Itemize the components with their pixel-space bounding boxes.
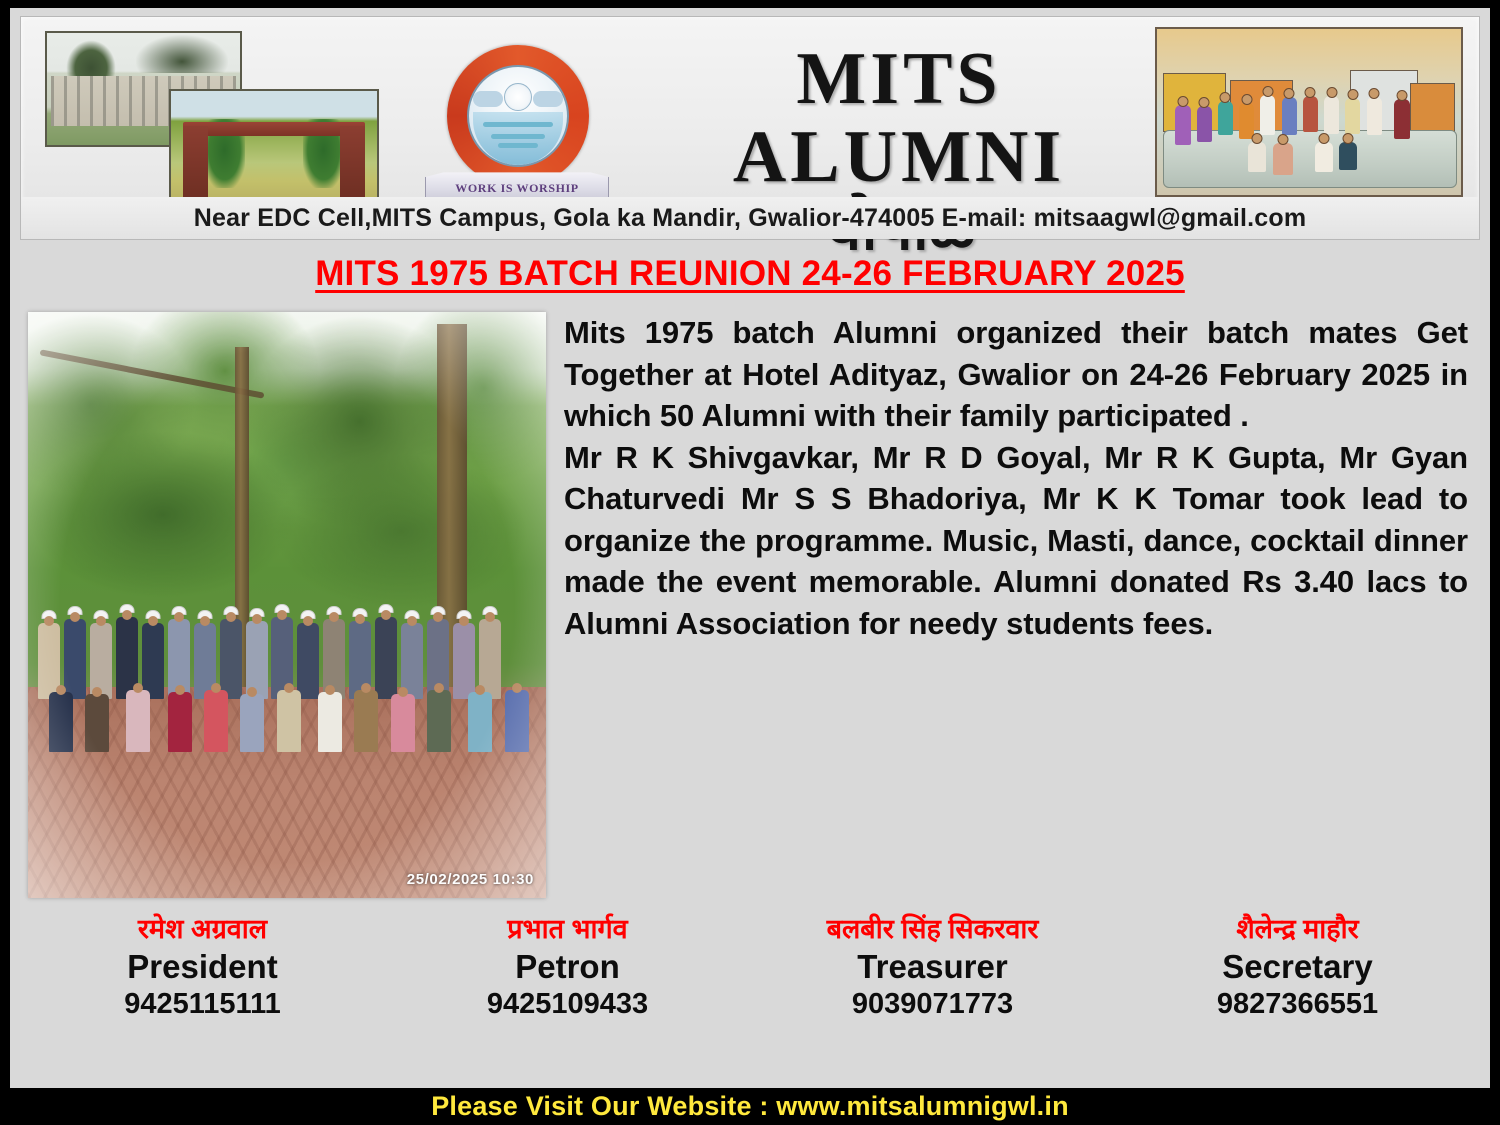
poster-body: WORK IS WORSHIP MITS ALUMNI चौपाळ [10, 8, 1490, 1088]
officer-role: President [20, 947, 385, 987]
illustration-hut-1 [1163, 73, 1226, 131]
poster-root: WORK IS WORSHIP MITS ALUMNI चौपाळ [0, 0, 1500, 1125]
illustration-figure [1197, 106, 1212, 142]
illustration-figure [1394, 99, 1410, 139]
officer-name-hi: प्रभात भार्गव [385, 914, 750, 945]
photo-person [85, 694, 109, 752]
gate-pillar-right [340, 126, 365, 203]
emblem-sun [504, 83, 532, 111]
photo-person [277, 690, 301, 752]
officer-secretary: शैलेन्द्र माहौर Secretary 9827366551 [1115, 914, 1480, 1021]
officer-role: Treasurer [750, 947, 1115, 987]
photo-person [318, 692, 342, 752]
address-text: Near EDC Cell,MITS Campus, Gola ka Mandi… [194, 204, 1307, 233]
officer-name-hi: शैलेन्द्र माहौर [1115, 914, 1480, 945]
officer-phone[interactable]: 9425109433 [385, 988, 750, 1021]
illustration-hut-4 [1410, 83, 1455, 131]
gate-pillar-left [183, 126, 208, 203]
photo-person [49, 692, 73, 752]
content-area: 25/02/2025 10:30 Mits 1975 batch Alumni … [28, 312, 1472, 898]
officer-role: Secretary [1115, 947, 1480, 987]
address-bar: Near EDC Cell,MITS Campus, Gola ka Mandi… [21, 197, 1479, 239]
illustration-figure [1260, 95, 1275, 135]
photo-person [240, 694, 264, 752]
illustration-figure [1303, 96, 1318, 132]
group-photo: 25/02/2025 10:30 [28, 312, 546, 898]
emblem-motto-text: WORK IS WORSHIP [455, 181, 578, 196]
photo-person [204, 690, 228, 752]
emblem-cloud-right [533, 91, 563, 107]
officer-name-hi: बलबीर सिंह सिकरवार [750, 914, 1115, 945]
mits-emblem-logo: WORK IS WORSHIP [419, 39, 619, 219]
officer-phone[interactable]: 9425115111 [20, 988, 385, 1021]
photo-person [468, 692, 492, 752]
illustration-figure [1315, 142, 1333, 172]
photo-person [505, 690, 529, 752]
emblem-inner-scene [467, 65, 569, 167]
wordmark-title-en: MITS ALUMNI [639, 41, 1159, 196]
illustration-figure [1324, 96, 1339, 134]
photo-person [168, 692, 192, 752]
illustration-figure [1218, 101, 1233, 135]
officer-petron: प्रभात भार्गव Petron 9425109433 [385, 914, 750, 1021]
illustration-figure [1175, 105, 1191, 145]
emblem-cloud-left [473, 91, 503, 107]
illustration-figure [1239, 103, 1254, 139]
photo-person [354, 690, 378, 752]
website-link[interactable]: Please Visit Our Website : www.mitsalumn… [431, 1091, 1069, 1122]
illustration-figure [1345, 98, 1360, 134]
officer-name-hi: रमेश अग्रवाल [20, 914, 385, 945]
website-footer-bar: Please Visit Our Website : www.mitsalumn… [0, 1088, 1500, 1125]
illustration-figure [1248, 142, 1266, 172]
article-text: Mits 1975 batch Alumni organized their b… [564, 312, 1472, 644]
illustration-figure [1339, 142, 1357, 170]
officer-president: रमेश अग्रवाल President 9425115111 [20, 914, 385, 1021]
photo-crowd-front-row [28, 664, 546, 752]
emblem-wave-3 [498, 143, 537, 148]
photo-person [427, 690, 451, 752]
illustration-figure [1282, 97, 1297, 135]
illustration-figure [1273, 143, 1293, 175]
emblem-wave-1 [483, 122, 554, 127]
photo-timestamp: 25/02/2025 10:30 [407, 871, 534, 888]
photo-person [391, 694, 415, 752]
photo-person [126, 690, 150, 752]
chaupal-illustration [1155, 27, 1463, 197]
officers-row: रमेश अग्रवाल President 9425115111 प्रभात… [20, 914, 1480, 1021]
article-paragraph-2: Mr R K Shivgavkar, Mr R D Goyal, Mr R K … [564, 437, 1468, 645]
gate-beam [183, 122, 364, 136]
officer-role: Petron [385, 947, 750, 987]
campus-gate-photo [169, 89, 379, 209]
illustration-figure [1367, 97, 1382, 135]
wordmark: MITS ALUMNI चौपाळ [639, 35, 1159, 205]
officer-phone[interactable]: 9827366551 [1115, 988, 1480, 1021]
officer-treasurer: बलबीर सिंह सिकरवार Treasurer 9039071773 [750, 914, 1115, 1021]
article-paragraph-1: Mits 1975 batch Alumni organized their b… [564, 312, 1468, 437]
officer-phone[interactable]: 9039071773 [750, 988, 1115, 1021]
masthead: WORK IS WORSHIP MITS ALUMNI चौपाळ [20, 16, 1480, 240]
emblem-wave-2 [491, 134, 546, 139]
